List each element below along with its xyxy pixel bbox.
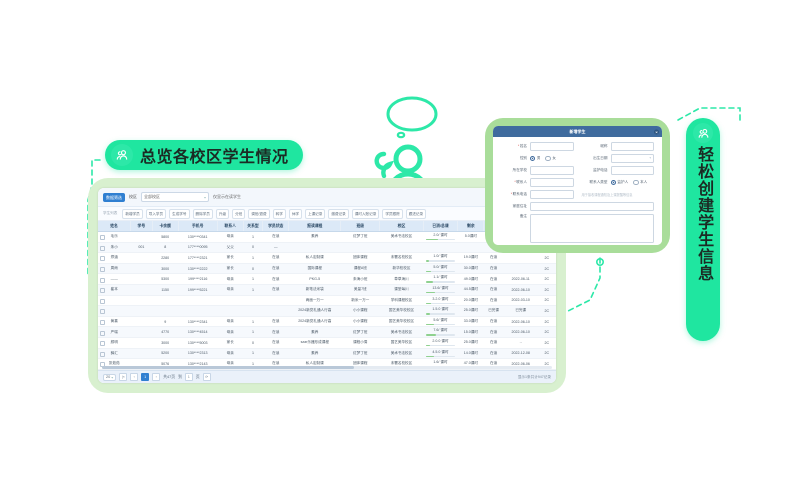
cell-balance: 3000: [152, 337, 178, 348]
cell-phone: 130****2341: [178, 369, 217, 370]
progress-bar: [426, 292, 454, 293]
cell-date: 2022-06-10: [503, 327, 538, 338]
cell-relation: [243, 295, 263, 306]
progress-bar: [426, 313, 454, 314]
dialog-title: 新增学生: [570, 129, 586, 135]
cell-name: 毛乐: [98, 232, 131, 243]
cell-name: [98, 306, 131, 317]
toolbar-button[interactable]: 跟进记录: [406, 209, 426, 219]
col-phone[interactable]: 手机号: [178, 221, 217, 232]
right-banner-text: 轻松创建学生信息: [695, 146, 711, 282]
cell-student-status: [263, 306, 289, 317]
remark-field-group: 备注: [501, 214, 654, 243]
cell-student-status: 在读: [263, 348, 289, 359]
progress-bar: [426, 324, 454, 325]
filter-tag-button[interactable]: 数据筛选: [103, 193, 125, 202]
cell-course: 新笔法米袋: [289, 284, 341, 295]
cell-relation: [243, 306, 263, 317]
cell-remain: 33.0课时: [458, 316, 484, 327]
cell-class: 新米一万一: [341, 295, 380, 306]
gender-radios: 男 女: [530, 156, 556, 161]
cell-note: 2C: [538, 295, 555, 306]
cell-remain: 19.0课时: [458, 253, 484, 264]
cell-state: 在读: [484, 295, 504, 306]
cell-phone: 130****4514: [178, 327, 217, 338]
cell-balance: 8: [152, 242, 178, 253]
col-sid[interactable]: 学号: [131, 221, 153, 232]
page-size-select[interactable]: 20 ▾: [103, 374, 116, 381]
chevron-down-icon: ▾: [111, 375, 113, 379]
cell-date: 2022-03-10: [503, 295, 538, 306]
cell-phone: 130****2222: [178, 263, 217, 274]
cell-sid: [131, 295, 153, 306]
school-label: 所在学校: [501, 168, 527, 173]
cell-campus: 草草海川: [380, 274, 423, 285]
cell-course: [289, 242, 341, 253]
cell-class: [341, 242, 380, 253]
table-row[interactable]: 严瑞4770130****4514母亲1在读素养红梦丁班美术书法校区7.6/ 课…: [98, 327, 556, 338]
contact-type-guardian-radio[interactable]: 监护人: [611, 180, 629, 185]
goto-page-input[interactable]: 1: [185, 373, 193, 381]
cell-balance: 5300: [152, 274, 178, 285]
cell-remain: 44.5课时: [458, 284, 484, 295]
cell-remain: 20.0课时: [458, 295, 484, 306]
horizontal-scrollbar[interactable]: [102, 366, 552, 369]
cell-campus: [380, 242, 423, 253]
cell-used: 1.5.0 课时: [423, 306, 458, 317]
cell-note: 2C: [538, 369, 555, 370]
cell-state: 在读: [484, 316, 504, 327]
cell-state: 在读: [484, 369, 504, 370]
toolbar-button[interactable]: 课时入账记录: [352, 209, 380, 219]
gender-male-radio[interactable]: 男: [530, 156, 540, 161]
cell-student-status: 在读: [263, 253, 289, 264]
cell-course: 2024新党礼通人行高: [289, 316, 341, 327]
cell-used: 5.0/ 课时: [423, 263, 458, 274]
gender-male-label: 男: [537, 156, 541, 161]
phone-field-group: 联系电话: [501, 190, 574, 199]
next-page-button[interactable]: ›: [152, 373, 160, 381]
col-contact[interactable]: 联系人: [217, 221, 243, 232]
cell-contact: 母亲: [217, 327, 243, 338]
contact-field-group: 联系人: [501, 178, 574, 187]
create-student-dialog: 新增学生 × 姓名 昵称 性别: [493, 126, 662, 245]
cell-date: 已完课: [503, 306, 538, 317]
cell-remain: 25.0课时: [458, 337, 484, 348]
cell-sid: [131, 253, 153, 264]
nick-input[interactable]: [611, 142, 655, 151]
cell-campus: 新华校校区: [380, 263, 423, 274]
goto-unit-label: 页: [196, 375, 200, 380]
cell-student-status: 在读: [263, 337, 289, 348]
current-page-button[interactable]: 1: [141, 373, 149, 381]
cell-sid: [131, 369, 153, 370]
cell-balance: 4770: [152, 327, 178, 338]
contact-label: 联系人: [501, 180, 527, 185]
cell-relation: 1: [243, 348, 263, 359]
cell-class: 课程A班: [341, 263, 380, 274]
people-icon: [693, 123, 713, 143]
cell-phone: [178, 306, 217, 317]
toolbar-button[interactable]: 删除学员: [193, 209, 213, 219]
cell-state: 已完课: [484, 306, 504, 317]
cell-class: 红梦丁班: [341, 348, 380, 359]
table-row[interactable]: 崔本1150199****5221母亲1在读新笔法米袋美量7班课堂每川13.6/…: [98, 284, 556, 295]
cell-relation: 0: [243, 263, 263, 274]
form-row: 联系人 联系人类型 监护人 本人: [501, 178, 654, 187]
contact-type-group: 联系人类型 监护人 本人: [582, 180, 655, 185]
cell-balance: 9: [152, 316, 178, 327]
cell-contact: 家长: [217, 253, 243, 264]
table-row[interactable]: 薛汇5200130****2313母亲1在读素养红梦丁班美术书法校区4.5.0 …: [98, 348, 556, 359]
table-row[interactable]: ——5300199****2116母亲1在读PKG-5朱海小班草草海川1.1/ …: [98, 274, 556, 285]
toolbar-button[interactable]: 分班: [232, 209, 245, 219]
birthday-field-group: 出生日期 ▾: [582, 154, 655, 163]
cell-course: 两面一万一: [289, 295, 341, 306]
progress-bar: [426, 303, 454, 304]
table-row[interactable]: 颜明3000130****5003家长0在读szar乐器形成课程课程小周国艺美华…: [98, 337, 556, 348]
cell-course: 素养: [289, 327, 341, 338]
cell-course: 私人定制课: [289, 253, 341, 264]
toolbar-button[interactable]: 调班/退费: [248, 209, 269, 219]
col-remain[interactable]: 剩余: [458, 221, 484, 232]
progress-bar: [426, 345, 454, 346]
cell-contact: 郑中: [217, 369, 243, 370]
cell-phone: 130****2341: [178, 316, 217, 327]
cell-campus: 学科课程校区: [380, 295, 423, 306]
poster-stage: 数据筛选 校区 全部校区 ▾ 仅显示在读学生 请输入关键字 学生列表 新增学员 …: [0, 0, 800, 500]
cell-phone: 199****5221: [178, 284, 217, 295]
cell-used: 1.0/ 课时: [423, 253, 458, 264]
cell-campus: 未署名校校区: [380, 253, 423, 264]
cell-contact: 母亲: [217, 348, 243, 359]
table-row[interactable]: 郑涵2280177****2321家长1在读私人定制课团体课程未署名校校区1.0…: [98, 253, 556, 264]
goto-label: 到: [178, 375, 182, 380]
cell-student-status: 在读: [263, 284, 289, 295]
col-used[interactable]: 已消/总课: [423, 221, 458, 232]
school-input[interactable]: [530, 166, 574, 175]
cell-contact: 父父: [217, 242, 243, 253]
cell-phone: 130****2313: [178, 348, 217, 359]
cell-name: 薛汇: [98, 348, 131, 359]
cell-note: 2C: [538, 253, 555, 264]
record-summary: 显示1条共计947记录: [518, 375, 551, 380]
contact-type-label: 联系人类型: [582, 180, 608, 185]
radio-dot-icon: [530, 156, 535, 161]
gender-label: 性别: [501, 156, 527, 161]
cell-class: 红梦丁班: [341, 232, 380, 243]
toolbar-button[interactable]: 升级: [216, 209, 229, 219]
cell-campus: 国艺美华校校区: [380, 316, 423, 327]
cell-balance: [152, 306, 178, 317]
cell-course: 2024新党礼通人行高: [289, 306, 341, 317]
cell-name: 周雨: [98, 263, 131, 274]
cell-sid: [131, 316, 153, 327]
cell-balance: 5800: [152, 232, 178, 243]
dialog-form: 姓名 昵称 性别 男: [493, 137, 662, 245]
cell-remain: 25.0课时: [458, 306, 484, 317]
cell-student-status: 在读: [263, 274, 289, 285]
cell-date: ··: [503, 337, 538, 348]
cell-name: 颜明: [98, 337, 131, 348]
first-page-button[interactable]: |«: [119, 373, 127, 381]
cell-balance: 2280: [152, 253, 178, 264]
prev-page-button[interactable]: ‹: [130, 373, 138, 381]
cell-phone: 177****2321: [178, 253, 217, 264]
col-relation[interactable]: 关系型: [243, 221, 263, 232]
cell-remain: 49.0课时: [458, 274, 484, 285]
cell-note: 2C: [538, 284, 555, 295]
dialog-title-bar: 新增学生 ×: [493, 126, 662, 137]
cell-date: [503, 263, 538, 274]
cell-state: 在读: [484, 327, 504, 338]
cell-student-status: 在读: [263, 263, 289, 274]
cell-remain: 5.0课时: [458, 232, 484, 243]
cell-name: 夏鹏: [98, 369, 131, 370]
cell-student-status: 中读: [263, 369, 289, 370]
cell-name: 朱小: [98, 242, 131, 253]
table-row[interactable]: 夏鹏5100130****2341郑中1中读小学期小学期基础学习舞蹈美育校学校5…: [98, 369, 556, 370]
form-row: 备注: [501, 214, 654, 243]
toolbar-title: 学生列表: [103, 211, 117, 216]
remark-label: 备注: [501, 214, 527, 219]
col-student-status[interactable]: 学员状态: [263, 221, 289, 232]
people-illustration: [360, 92, 460, 192]
cell-note: 2C: [538, 316, 555, 327]
campus-select-value: 全部校区: [144, 194, 160, 200]
col-class[interactable]: 班级: [341, 221, 380, 232]
cell-class: 课程小周: [341, 337, 380, 348]
cell-remain: 30.0课时: [458, 263, 484, 274]
create-student-card: 新增学生 × 姓名 昵称 性别: [485, 118, 670, 253]
cell-name: 黄喜: [98, 316, 131, 327]
cell-date: [503, 253, 538, 264]
cell-state: 在读: [484, 263, 504, 274]
parent-phone-label: 监护电话: [582, 168, 608, 173]
cell-relation: 1: [243, 369, 263, 370]
left-banner: 总览各校区学生情况: [105, 140, 303, 170]
name-input[interactable]: [530, 142, 574, 151]
phone-label: 联系电话: [501, 192, 527, 197]
toolbar-button[interactable]: 缴费记录: [328, 209, 348, 219]
cell-used: 13.6/ 课时: [423, 284, 458, 295]
phone-hint-group: 用于接收课程通知及上课提醒等信息: [582, 192, 655, 197]
cell-used: 5.5/ 课时: [423, 369, 458, 370]
cell-phone: 130****5003: [178, 337, 217, 348]
col-balance[interactable]: 卡余额: [152, 221, 178, 232]
cell-class: 小学期基础学习: [341, 369, 380, 370]
toolbar-button[interactable]: 生成学号: [169, 209, 189, 219]
cell-relation: 1: [243, 327, 263, 338]
cell-used: 5.6/ 课时: [423, 316, 458, 327]
radio-dot-icon: [545, 156, 550, 161]
campus-label: 校区: [129, 194, 137, 200]
cell-campus: 国艺美华校校区: [380, 306, 423, 317]
phone-input[interactable]: [530, 190, 574, 199]
toolbar-button[interactable]: 新增学员: [122, 209, 142, 219]
parent-phone-group: 监护电话: [582, 166, 655, 175]
toolbar-button[interactable]: 导入学员: [146, 209, 166, 219]
cell-balance: 1150: [152, 284, 178, 295]
form-row: 姓名 昵称: [501, 142, 654, 151]
progress-bar: [426, 356, 454, 357]
cell-course: 素养: [289, 232, 341, 243]
cell-date: 2022-12-08: [503, 369, 538, 370]
toolbar-button[interactable]: 学员跟踪: [382, 209, 402, 219]
cell-contact: 家长: [217, 263, 243, 274]
cell-used: 1.1/ 课时: [423, 274, 458, 285]
toolbar-button[interactable]: 休学: [289, 209, 302, 219]
form-row: 家庭住址: [501, 202, 654, 211]
cell-relation: 1: [243, 232, 263, 243]
cell-campus: 美术书法校区: [380, 232, 423, 243]
cell-sid: [131, 284, 153, 295]
cell-course: 国际课程: [289, 263, 341, 274]
form-row: 性别 男 女 出生日期: [501, 154, 654, 163]
col-campus[interactable]: 校区: [380, 221, 423, 232]
cell-relation: 1: [243, 316, 263, 327]
address-field-group: 家庭住址: [501, 202, 654, 211]
form-row: 联系电话 用于接收课程通知及上课提醒等信息: [501, 190, 654, 199]
cell-used: [423, 242, 458, 253]
radio-dot-icon: [611, 180, 616, 185]
cell-class: 朱海小班: [341, 274, 380, 285]
cell-contact: [217, 306, 243, 317]
cell-student-status: —: [263, 242, 289, 253]
progress-bar: [426, 271, 454, 272]
gender-female-radio[interactable]: 女: [545, 156, 555, 161]
cell-note: 2C: [538, 263, 555, 274]
progress-bar: [426, 260, 454, 261]
parent-phone-input[interactable]: [611, 166, 655, 175]
cell-campus: 国艺美华校区: [380, 337, 423, 348]
progress-bar: [426, 281, 454, 282]
birthday-picker[interactable]: ▾: [611, 154, 655, 163]
cell-name: [98, 295, 131, 306]
contact-opt2-label: 本人: [640, 180, 647, 185]
col-name[interactable]: 姓名: [98, 221, 131, 232]
page-size-value: 20: [106, 375, 110, 379]
cell-class: 团体课程: [341, 253, 380, 264]
cell-name: 崔本: [98, 284, 131, 295]
toolbar-button[interactable]: 转学: [273, 209, 286, 219]
cell-name: ——: [98, 274, 131, 285]
gender-field-group: 性别 男 女: [501, 156, 574, 161]
cell-contact: 母亲: [217, 284, 243, 295]
form-row: 所在学校 监护电话: [501, 166, 654, 175]
table-row[interactable]: 两面一万一新米一万一学科课程校区3.2.0 课时20.0课时在读2022-03-…: [98, 295, 556, 306]
refresh-icon[interactable]: ⟳: [203, 373, 211, 381]
people-icon: [111, 144, 133, 166]
cell-class: 红梦丁班: [341, 327, 380, 338]
contact-type-self-radio[interactable]: 本人: [633, 180, 647, 185]
contact-type-radios: 监护人 本人: [611, 180, 648, 185]
cell-state: 在读: [484, 337, 504, 348]
cell-note: 2C: [538, 274, 555, 285]
cell-course: szar乐器形成课程: [289, 337, 341, 348]
cell-state: 在读: [484, 274, 504, 285]
cell-contact: 家长: [217, 337, 243, 348]
cell-note: 2C: [538, 348, 555, 359]
chevron-down-icon: ▾: [204, 195, 206, 199]
total-pages-label: 共47页: [163, 375, 175, 380]
right-banner: 轻松创建学生信息: [686, 118, 720, 341]
progress-bar: [426, 239, 454, 240]
cell-sid: [131, 263, 153, 274]
gender-female-label: 女: [552, 156, 556, 161]
cell-class: 小小课程: [341, 316, 380, 327]
cell-state: 在读: [484, 253, 504, 264]
cell-state: 在读: [484, 284, 504, 295]
cell-remain: 15.0课时: [458, 327, 484, 338]
cell-course: 素养: [289, 348, 341, 359]
cell-contact: [217, 295, 243, 306]
cell-relation: 0: [243, 242, 263, 253]
cell-class: 美量7班: [341, 284, 380, 295]
cell-student-status: [263, 295, 289, 306]
cell-used: 3.2.0 课时: [423, 295, 458, 306]
cell-date: 2022-06-10: [503, 316, 538, 327]
cell-phone: 199****2116: [178, 274, 217, 285]
address-label: 家庭住址: [501, 204, 527, 209]
cell-campus: 美术书法校区: [380, 327, 423, 338]
nick-label: 昵称: [582, 144, 608, 149]
close-icon[interactable]: ×: [654, 129, 659, 134]
birthday-label: 出生日期: [582, 156, 608, 161]
cell-relation: 1: [243, 284, 263, 295]
cell-used: 2.0/ 课时: [423, 232, 458, 243]
name-field-group: 姓名: [501, 142, 574, 151]
col-course[interactable]: 报读课程: [289, 221, 341, 232]
phone-hint: 用于接收课程通知及上课提醒等信息: [582, 192, 633, 197]
progress-bar: [426, 334, 454, 335]
contact-input[interactable]: [530, 178, 574, 187]
cell-contact: 母亲: [217, 232, 243, 243]
cell-sid: [131, 337, 153, 348]
address-input[interactable]: [530, 202, 654, 211]
cell-relation: 1: [243, 274, 263, 285]
cell-contact: 母亲: [217, 316, 243, 327]
pagination-bar: 20 ▾ |« ‹ 1 › 共47页 到 1 页 ⟳ 显示1条共计947记录: [98, 370, 556, 383]
remark-textarea[interactable]: [530, 214, 654, 243]
cell-date: 2022-06-10: [503, 284, 538, 295]
cell-balance: 5200: [152, 348, 178, 359]
cell-state: 在读: [484, 348, 504, 359]
contact-opt1-label: 监护人: [617, 180, 628, 185]
cell-course: 小学期: [289, 369, 341, 370]
cell-remain: 14.0课时: [458, 348, 484, 359]
cell-note: 2C: [538, 327, 555, 338]
nick-field-group: 昵称: [582, 142, 655, 151]
cell-campus: 舞蹈美育校学校: [380, 369, 423, 370]
table-row[interactable]: 黄喜9130****2341母亲1在读2024新党礼通人行高小小课程国艺美华校校…: [98, 316, 556, 327]
table-row[interactable]: 2024新党礼通人行高小小课程国艺美华校校区1.5.0 课时25.0课时已完课已…: [98, 306, 556, 317]
cell-sid: 001: [131, 242, 153, 253]
cell-sid: [131, 348, 153, 359]
left-banner-text: 总览各校区学生情况: [140, 143, 289, 167]
enrolled-only-checkbox[interactable]: 仅显示在读学生: [213, 194, 241, 200]
campus-select[interactable]: 全部校区 ▾: [141, 192, 209, 202]
cell-campus: 课堂每川: [380, 284, 423, 295]
table-row[interactable]: 周雨3000130****2222家长0在读国际课程课程A班新华校校区5.0/ …: [98, 263, 556, 274]
cell-date: 2022-06-11: [503, 274, 538, 285]
cell-relation: 1: [243, 253, 263, 264]
cell-sid: [131, 232, 153, 243]
toolbar-button[interactable]: 上课记录: [305, 209, 325, 219]
cell-phone: 130****0341: [178, 232, 217, 243]
cell-contact: 母亲: [217, 274, 243, 285]
cell-course: PKG-5: [289, 274, 341, 285]
